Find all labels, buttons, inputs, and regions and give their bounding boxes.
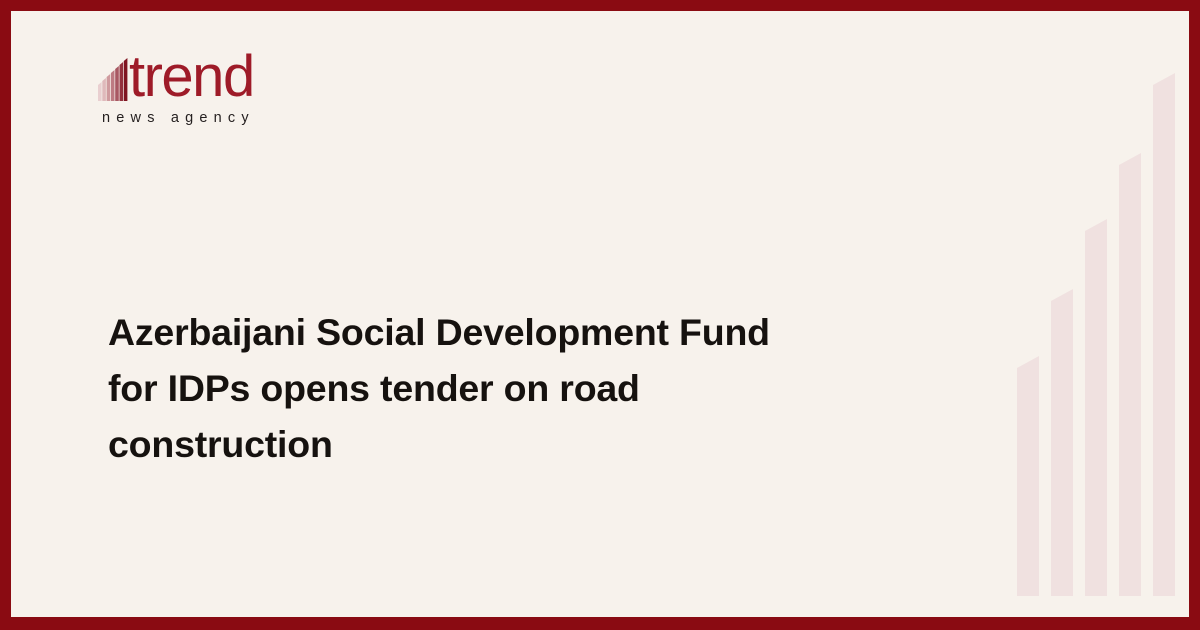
ascending-bars-mark-icon	[98, 49, 128, 101]
share-card: trend news agency Azerbaijani Social Dev…	[0, 0, 1200, 630]
headline-text: Azerbaijani Social Development Fund for …	[108, 304, 808, 472]
card-canvas: trend news agency Azerbaijani Social Dev…	[11, 11, 1189, 617]
trend-logo[interactable]: trend news agency	[98, 49, 398, 126]
logo-wordmark: trend	[129, 51, 254, 103]
logo-lockup: trend	[98, 49, 398, 101]
ascending-bars-graphic	[999, 11, 1189, 596]
logo-tagline: news agency	[102, 110, 398, 126]
